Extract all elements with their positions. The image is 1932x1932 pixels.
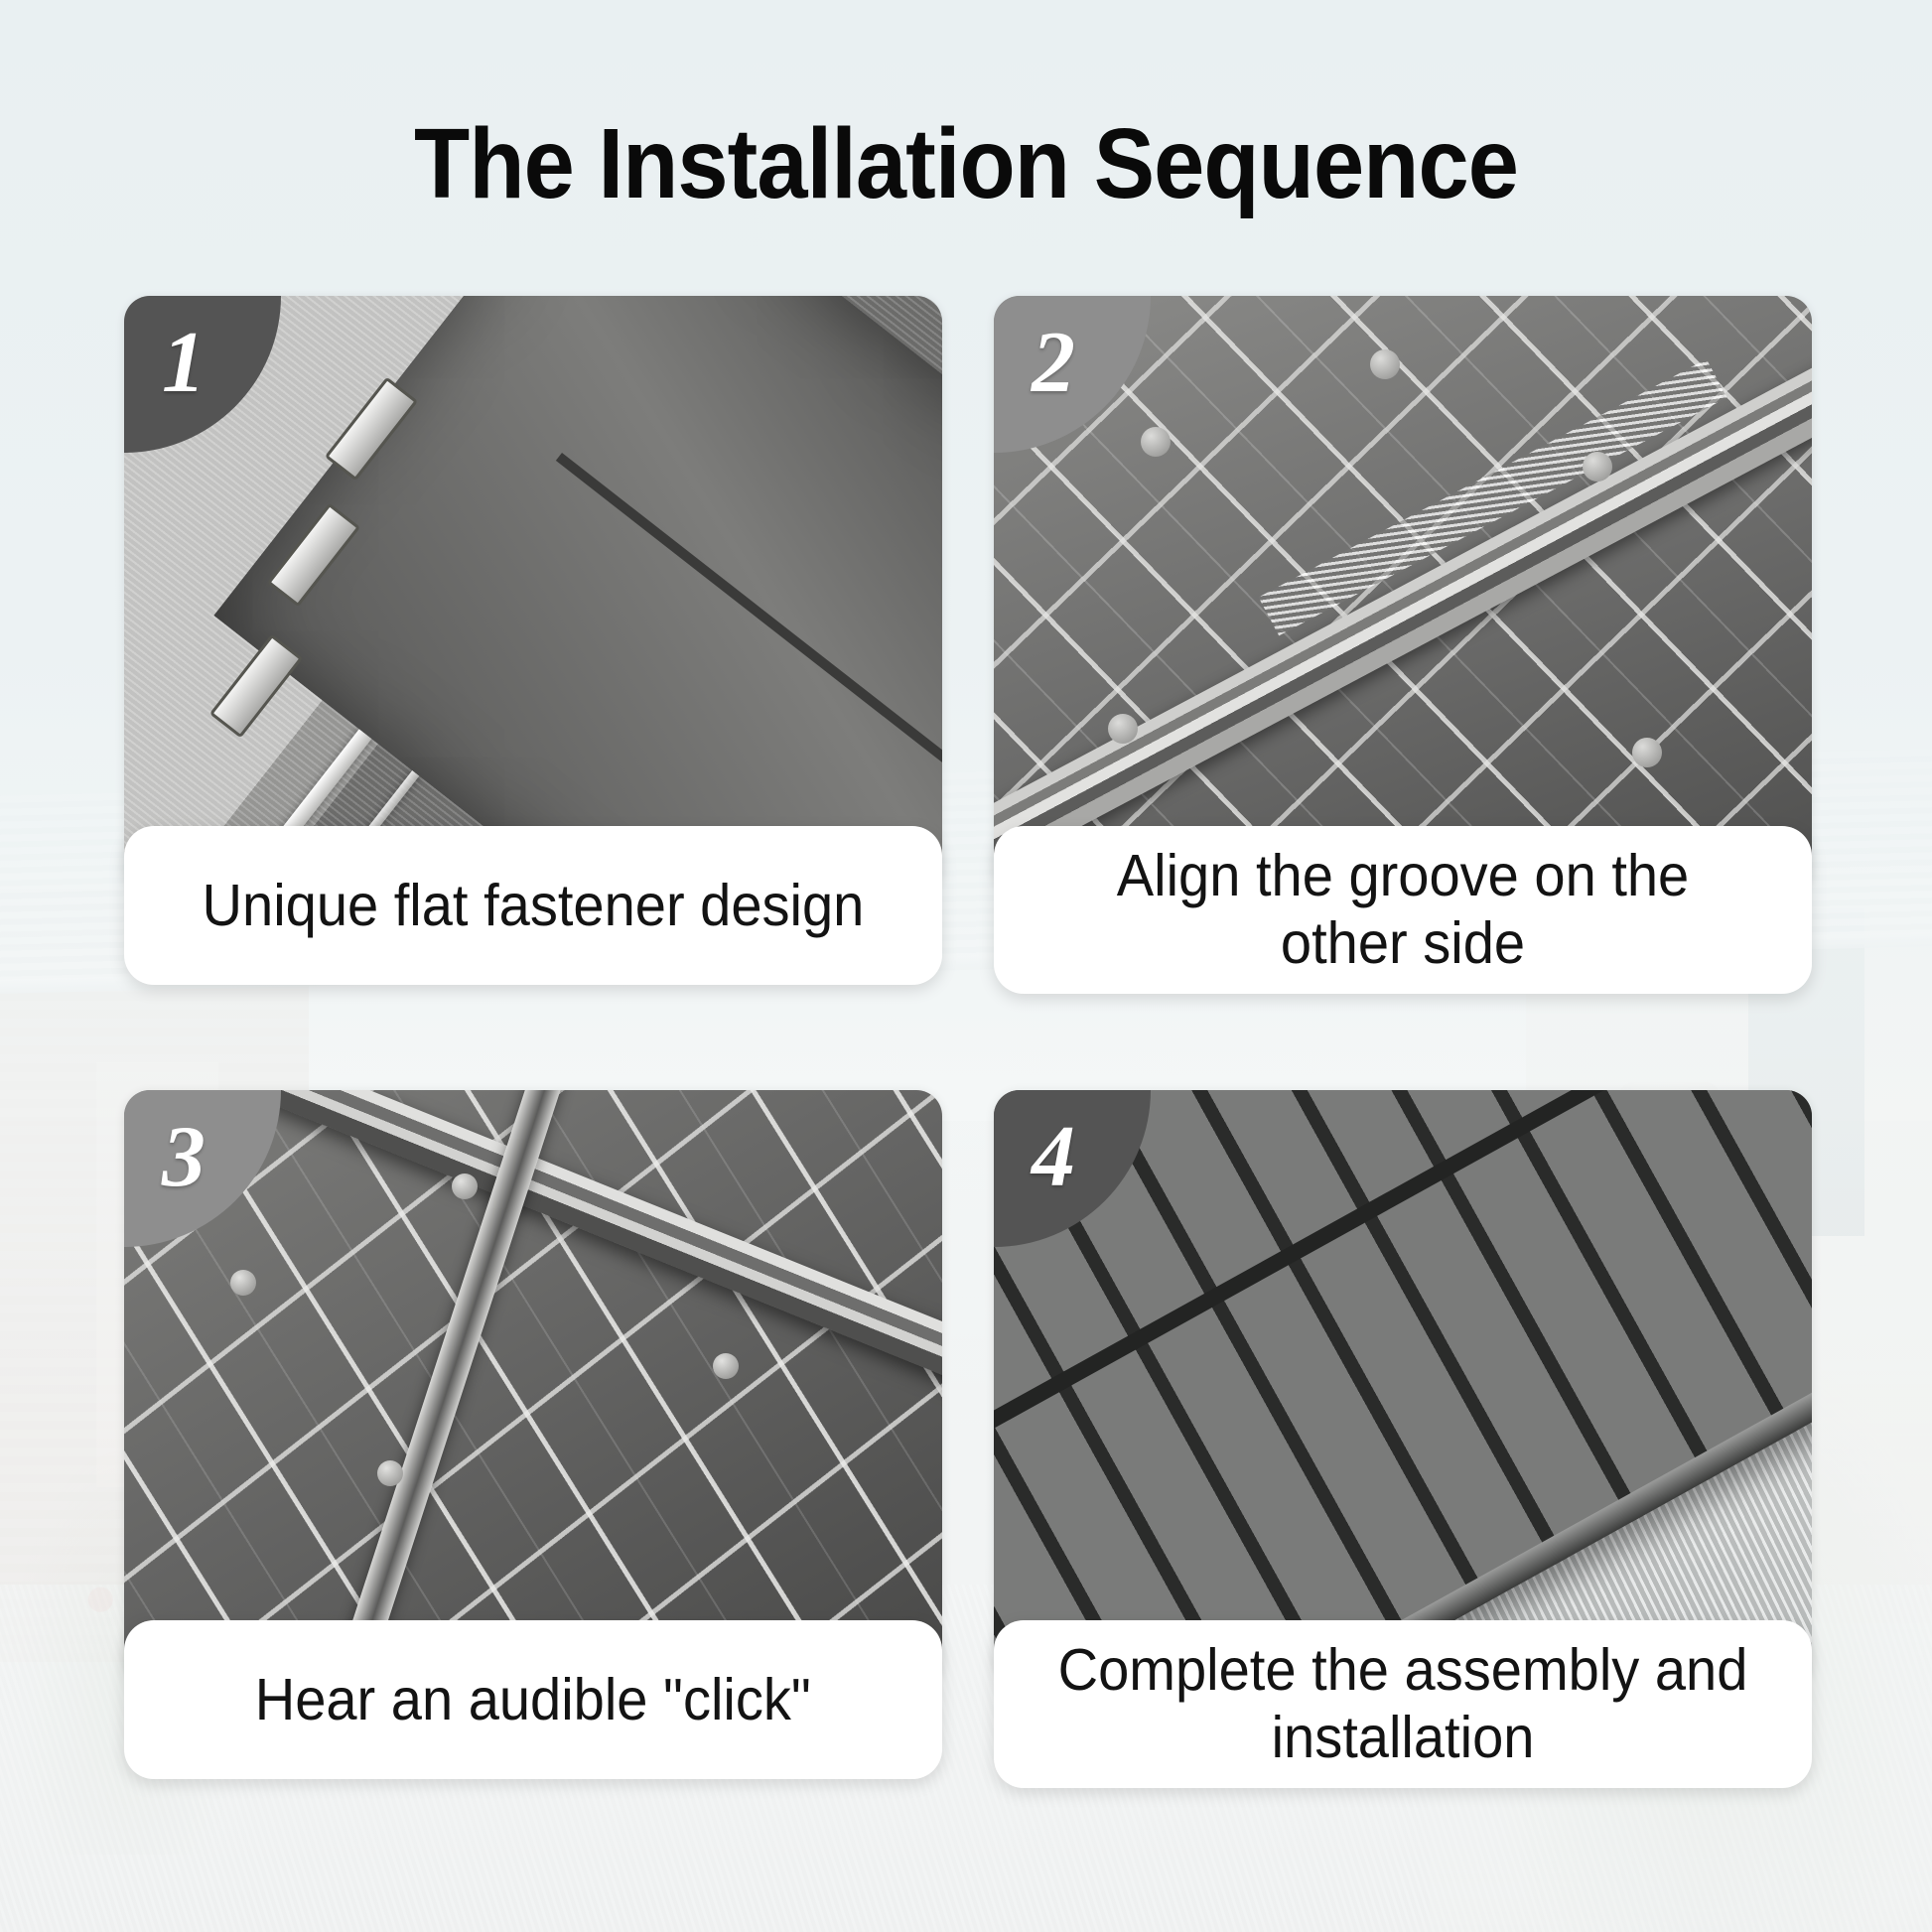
step-caption-card-2: Align the groove on the other side [994, 826, 1812, 994]
flat-fastener-clip [209, 634, 303, 739]
grid-node [230, 1270, 256, 1296]
step-panel-2: 2 Align the groove on the other side [994, 296, 1812, 1048]
step-caption-card-3: Hear an audible "click" [124, 1620, 942, 1779]
step-caption-card-4: Complete the assembly and installation [994, 1620, 1812, 1788]
grid-node [713, 1353, 739, 1379]
step-number-3: 3 [162, 1114, 206, 1201]
step-panel-1: 1 Unique flat fastener design [124, 296, 942, 1048]
grid-node [1632, 738, 1662, 767]
step-caption-text-3: Hear an audible "click" [255, 1666, 811, 1733]
step-caption-text-2: Align the groove on the other side [1046, 842, 1759, 978]
step-panel-3: 3 Hear an audible "click" [124, 1090, 942, 1843]
step-caption-text-1: Unique flat fastener design [203, 872, 865, 939]
grid-node [1583, 452, 1612, 482]
infographic-root: The Installation Sequence 1 Unique flat … [0, 0, 1932, 1932]
grid-node [452, 1173, 478, 1199]
grid-node [1370, 349, 1400, 379]
step-number-1: 1 [162, 320, 206, 407]
dark-tile [214, 296, 942, 894]
step-caption-card-1: Unique flat fastener design [124, 826, 942, 985]
step-number-4: 4 [1032, 1114, 1075, 1201]
installation-step-grid: 1 Unique flat fastener design 2 [124, 296, 1812, 1845]
step-caption-text-4: Complete the assembly and installation [1046, 1636, 1759, 1772]
step-panel-4: 4 Complete the assembly and installation [994, 1090, 1812, 1843]
step-number-2: 2 [1032, 320, 1075, 407]
page-title: The Installation Sequence [77, 107, 1855, 221]
